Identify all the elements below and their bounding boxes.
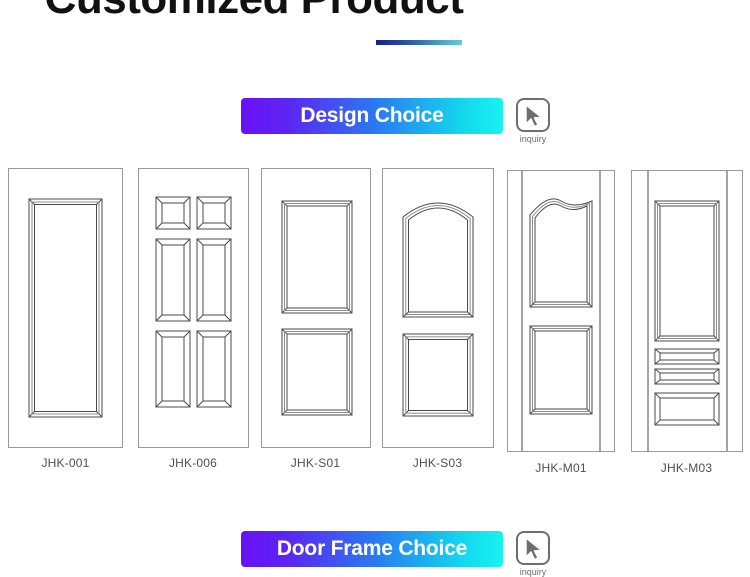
inquiry-button[interactable] [516, 531, 550, 565]
door-frame-choice-row: Door Frame Choice inquiry [241, 531, 554, 577]
door-frame-choice-button[interactable]: Door Frame Choice [241, 531, 503, 567]
door-label: JHK-M01 [535, 461, 586, 475]
door-item-jhk-001[interactable]: JHK-001 [0, 168, 131, 475]
door-item-jhk-m01[interactable]: JHK-M01 [499, 168, 623, 475]
door-item-jhk-006[interactable]: JHK-006 [131, 168, 255, 475]
door-item-jhk-s01[interactable]: JHK-S01 [255, 168, 376, 475]
inquiry-label: inquiry [520, 134, 547, 144]
door-label: JHK-001 [41, 456, 89, 470]
door-item-jhk-s03[interactable]: JHK-S03 [376, 168, 499, 475]
frame-inquiry-group[interactable]: inquiry [512, 531, 554, 577]
door-label: JHK-S01 [291, 456, 340, 470]
door-thumbnail[interactable] [8, 168, 123, 448]
design-inquiry-group[interactable]: inquiry [512, 98, 554, 144]
door-label: JHK-M03 [661, 461, 712, 475]
door-gallery: JHK-001 [0, 168, 750, 475]
inquiry-button[interactable] [516, 98, 550, 132]
page-title: Customized Product [0, 0, 508, 24]
door-item-jhk-m03[interactable]: JHK-M03 [623, 168, 750, 475]
door-thumbnail[interactable] [382, 168, 494, 448]
door-label: JHK-006 [169, 456, 217, 470]
door-thumbnail[interactable] [507, 170, 615, 452]
title-accent-bar [376, 40, 462, 45]
door-thumbnail[interactable] [631, 170, 743, 452]
inquiry-label: inquiry [520, 567, 547, 577]
design-choice-button[interactable]: Design Choice [241, 98, 503, 134]
door-thumbnail[interactable] [138, 168, 249, 448]
door-label: JHK-S03 [413, 456, 462, 470]
door-thumbnail[interactable] [261, 168, 371, 448]
design-choice-row: Design Choice inquiry [241, 98, 554, 144]
